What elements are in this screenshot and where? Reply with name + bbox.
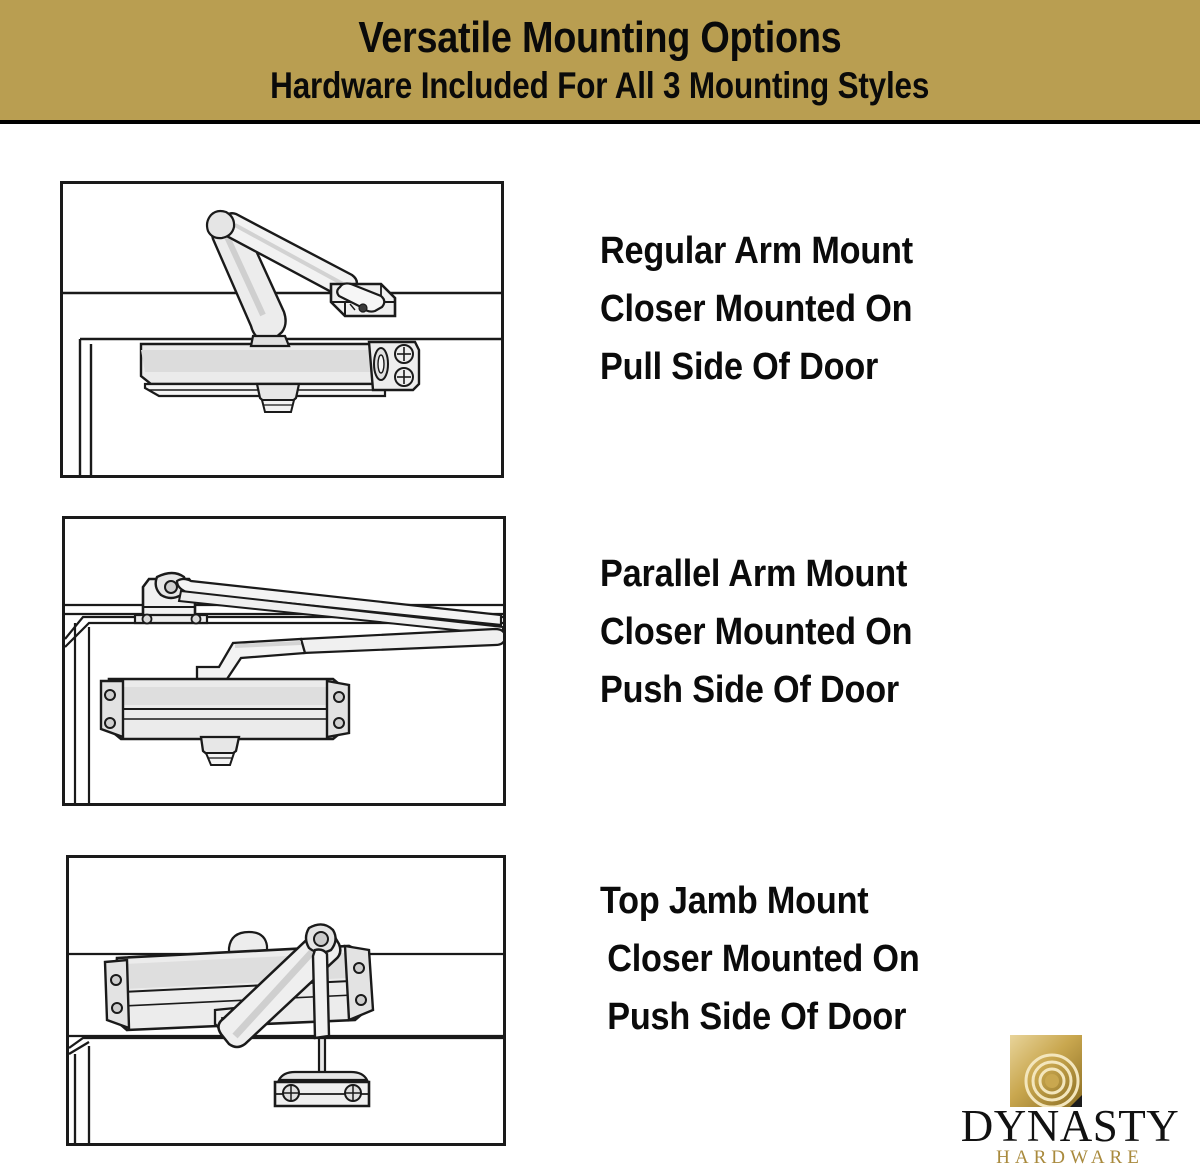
concentric-rings-square-icon	[1010, 1035, 1082, 1107]
frame-bracket-regular	[331, 283, 395, 316]
header-banner: Versatile Mounting Options Hardware Incl…	[0, 0, 1200, 124]
logo-wordmark: DYNASTY	[960, 1103, 1180, 1150]
diagram-panel-top-jamb	[66, 855, 506, 1146]
door-closer-regular-arm-diagram	[63, 184, 501, 475]
text-block-parallel-arm: Parallel Arm Mount Closer Mounted On Pus…	[600, 545, 1030, 719]
text-block-top-jamb: Top Jamb Mount Closer Mounted On Push Si…	[600, 872, 1030, 1046]
door-closer-parallel-arm-diagram	[65, 519, 503, 803]
brand-logo: DYNASTY HARDWARE	[960, 1035, 1180, 1163]
section-title-regular: Regular Arm Mount	[600, 222, 987, 280]
section-line3-top-jamb: Push Side Of Door	[600, 988, 987, 1046]
text-block-regular-arm: Regular Arm Mount Closer Mounted On Pull…	[600, 222, 1030, 396]
closer-body-regular	[141, 342, 419, 412]
section-line2-parallel: Closer Mounted On	[600, 603, 987, 661]
section-title-parallel: Parallel Arm Mount	[600, 545, 987, 603]
banner-title: Versatile Mounting Options	[358, 13, 841, 63]
diagram-panel-regular-arm	[60, 181, 504, 478]
section-line3-parallel: Push Side Of Door	[600, 661, 987, 719]
section-line2-top-jamb: Closer Mounted On	[600, 930, 987, 988]
diagram-panel-parallel-arm	[62, 516, 506, 806]
closer-body-parallel	[101, 679, 349, 765]
banner-subtitle: Hardware Included For All 3 Mounting Sty…	[270, 65, 929, 107]
closer-parallel-arm-links	[177, 579, 503, 679]
logo-subword: HARDWARE	[960, 1148, 1180, 1168]
section-title-top-jamb: Top Jamb Mount	[600, 872, 987, 930]
section-line3-regular: Pull Side Of Door	[600, 338, 987, 396]
door-closer-top-jamb-diagram	[69, 858, 503, 1143]
section-line2-regular: Closer Mounted On	[600, 280, 987, 338]
closer-main-arm-regular	[207, 211, 357, 346]
